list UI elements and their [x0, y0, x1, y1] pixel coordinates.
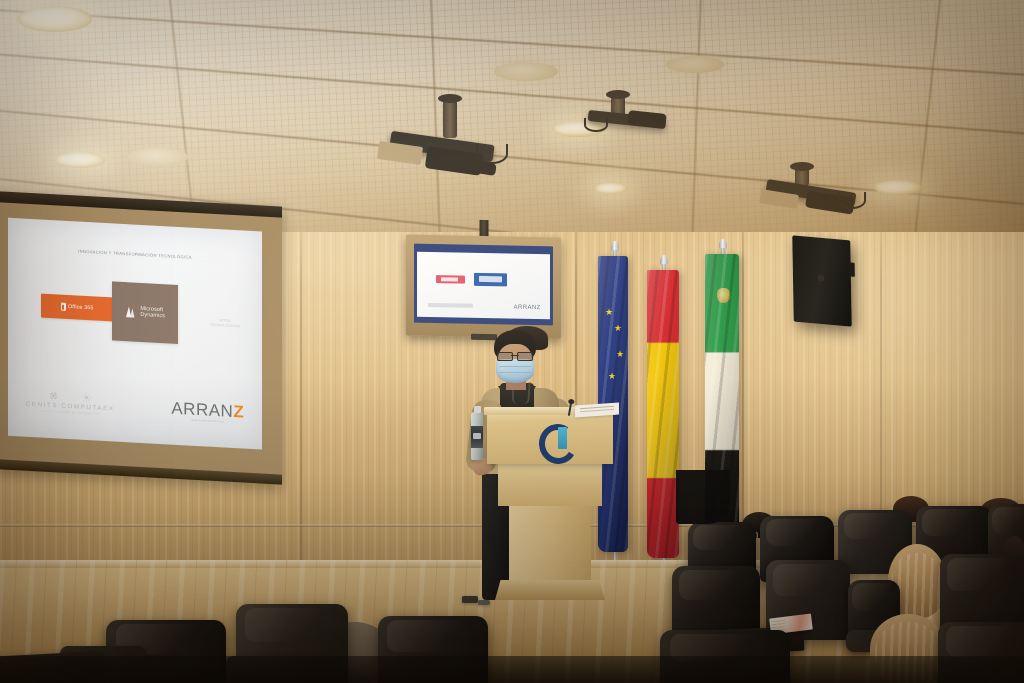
podium-logo [539, 424, 573, 454]
seated-audience [0, 470, 1024, 683]
podium-logo-bar-icon [558, 427, 567, 449]
eyeglasses-icon [497, 352, 533, 359]
tv-screen: ARRANZ [414, 244, 553, 326]
microsoft-dynamics-logo: Microsoft Dynamics [112, 281, 178, 343]
face-mask-icon [496, 359, 534, 383]
glasses-right-lens [517, 352, 533, 361]
tv-slide-mirror: ARRANZ [417, 252, 550, 320]
tv-arranz-label: ARRANZ [514, 305, 541, 312]
main-projection-screen: INNOVACIÓN Y TRANSFORMACIÓN TECNOLÓGICA … [0, 191, 282, 485]
tv-office365-logo [436, 275, 465, 284]
office365-tile-icon [61, 303, 66, 311]
computaex-logo: CENITS COMPUTAEX Centro Extremeño de iNv… [12, 388, 129, 417]
office365-label: Office 365 [68, 304, 93, 311]
arranz-word-accent: Z [233, 402, 244, 422]
sunburst-icon [81, 392, 92, 404]
seat-shadow [676, 470, 730, 524]
pinwheel-icon [48, 390, 59, 402]
wall-mounted-tv: ARRANZ [406, 235, 561, 339]
tv-dynamics-logo [474, 272, 507, 286]
ceiling [0, 0, 1024, 232]
arranz-wordmark: ARRANZ [171, 400, 244, 421]
bottle-label [471, 426, 483, 448]
speaker-bracket [849, 263, 855, 278]
tv-computaex-logo [428, 303, 473, 308]
arranz-word-main: ARRAN [171, 399, 233, 421]
slide-side-note: HITOS TECNOLÓGICOS [197, 317, 253, 329]
glasses-left-lens [497, 352, 513, 361]
auditorium-photo: INNOVACIÓN Y TRANSFORMACIÓN TECNOLÓGICA … [0, 0, 1024, 683]
ceiling-shading [0, 0, 1024, 232]
dynamics-label: Microsoft Dynamics [140, 306, 165, 320]
dynamics-mountain-icon [125, 305, 137, 319]
tv-ceiling-mount [479, 220, 488, 237]
bottle-cap [474, 406, 481, 413]
arranz-logo: ARRANZ www.arranzacustica.es [171, 400, 244, 425]
dynamics-line2: Dynamics [140, 312, 165, 319]
slide-heading: INNOVACIÓN Y TRANSFORMACIÓN TECNOLÓGICA [8, 245, 262, 264]
office365-logo: Office 365 [41, 294, 113, 322]
wall-loudspeaker [792, 235, 851, 326]
slide-content: INNOVACIÓN Y TRANSFORMACIÓN TECNOLÓGICA … [8, 218, 262, 450]
foreground-shadow [0, 656, 1024, 683]
water-bottle [471, 412, 483, 460]
